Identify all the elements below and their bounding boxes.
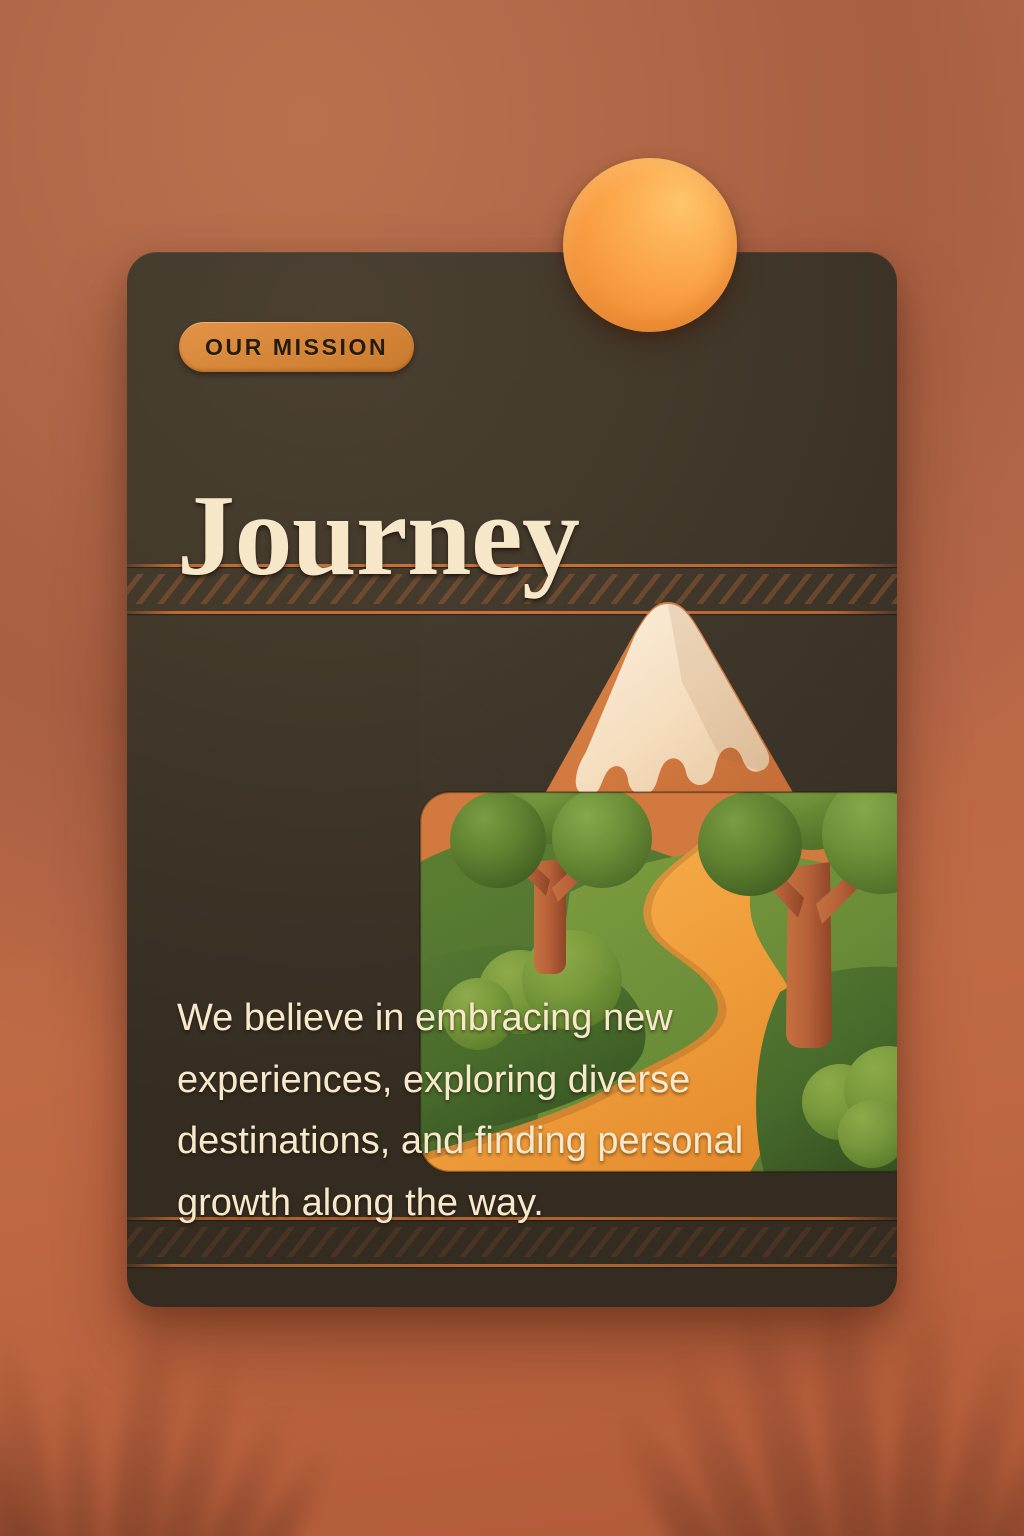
mission-body-text: We believe in embracing new experiences,… bbox=[177, 988, 817, 1234]
mission-card: OUR MISSION Journey We believe in embrac… bbox=[127, 252, 897, 1307]
sun-icon bbox=[563, 158, 737, 332]
tree-left-leaf-right bbox=[552, 788, 652, 888]
our-mission-badge[interactable]: OUR MISSION bbox=[179, 322, 414, 372]
page-title: Journey bbox=[177, 478, 580, 594]
badge-label: OUR MISSION bbox=[205, 334, 388, 361]
tree-left-leaf-left bbox=[450, 792, 546, 888]
tree-right-leaf-left bbox=[698, 792, 802, 896]
divider-bottom-rule-lower bbox=[127, 1264, 897, 1267]
poster-root: OUR MISSION Journey We believe in embrac… bbox=[0, 0, 1024, 1536]
